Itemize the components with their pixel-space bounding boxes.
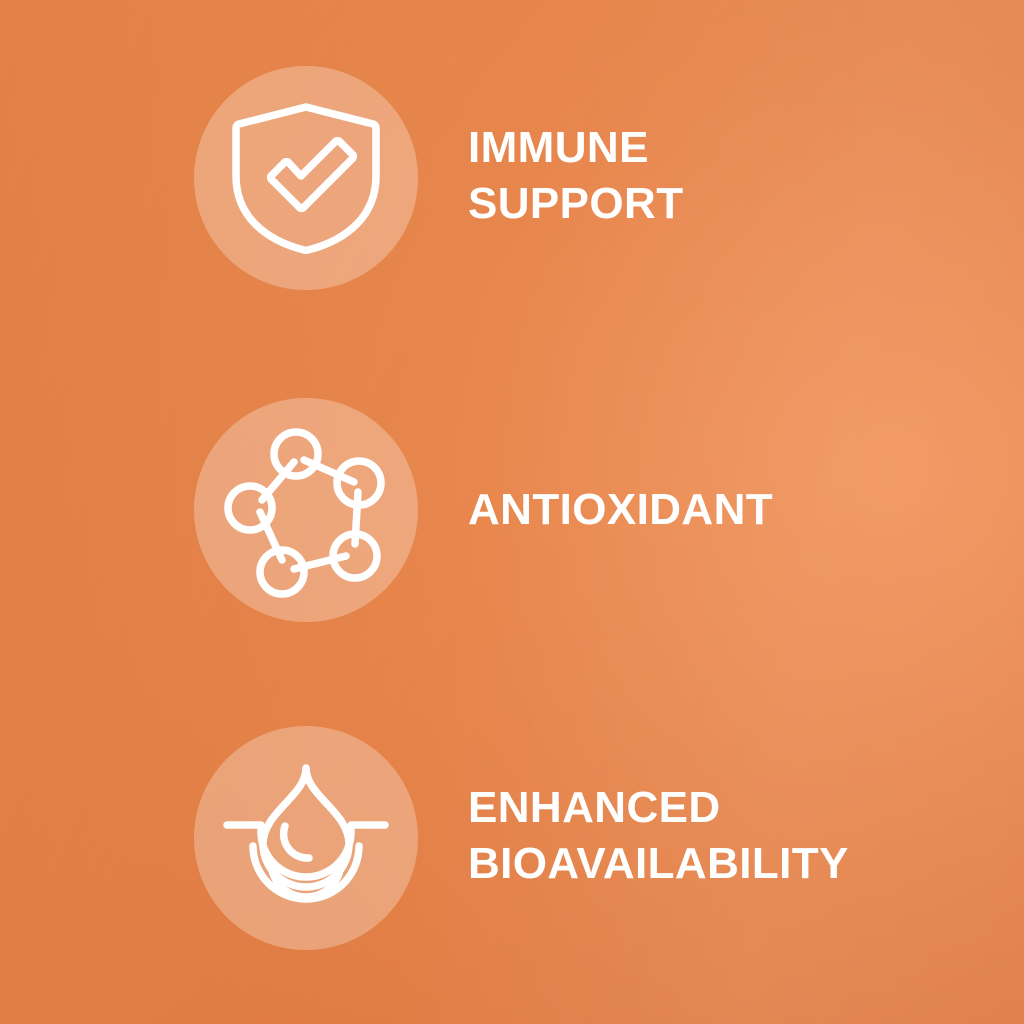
icon-badge-antioxidant bbox=[194, 398, 418, 622]
droplet-ripple-icon bbox=[223, 762, 389, 914]
feature-row: IMMUNE SUPPORT bbox=[0, 66, 1024, 290]
feature-label-antioxidant: ANTIOXIDANT bbox=[468, 482, 998, 538]
icon-badge-immune-support bbox=[194, 66, 418, 290]
molecule-pentagon-icon bbox=[226, 432, 386, 588]
feature-label-bioavailability: ENHANCED BIOAVAILABILITY bbox=[468, 780, 998, 893]
benefits-infographic: IMMUNE SUPPORT bbox=[0, 0, 1024, 1024]
icon-badge-bioavailability bbox=[194, 726, 418, 950]
feature-row: ENHANCED BIOAVAILABILITY bbox=[0, 726, 1024, 950]
feature-label-immune-support: IMMUNE SUPPORT bbox=[468, 120, 998, 233]
shield-check-icon bbox=[231, 100, 381, 256]
feature-row: ANTIOXIDANT bbox=[0, 398, 1024, 622]
feature-list: IMMUNE SUPPORT bbox=[0, 0, 1024, 1024]
